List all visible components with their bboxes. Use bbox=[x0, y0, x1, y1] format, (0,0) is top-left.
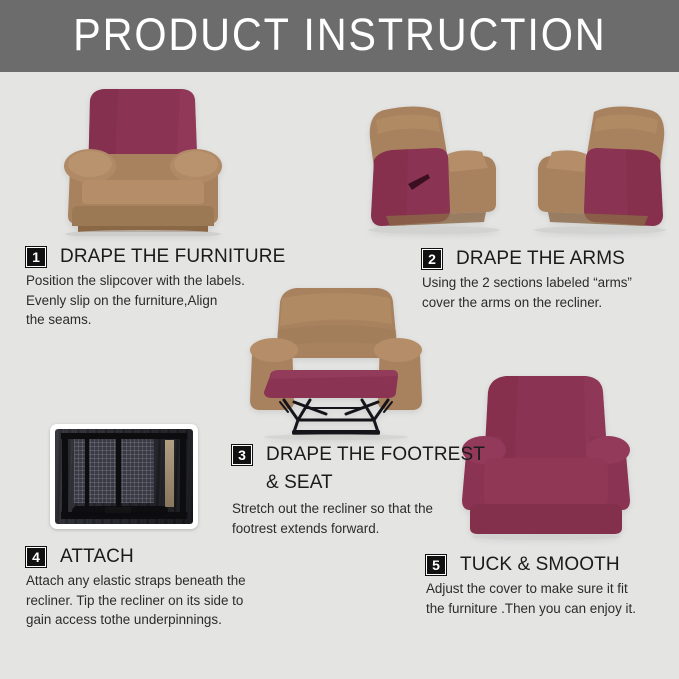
step-4-title: ATTACH bbox=[60, 546, 134, 568]
step-5-badge: 5 bbox=[426, 555, 446, 575]
two-recliners-svg bbox=[362, 98, 672, 238]
image-recliner-underside-photo bbox=[50, 424, 198, 529]
step-3-badge: 3 bbox=[232, 445, 252, 465]
frame-bar-center-vertical bbox=[116, 437, 121, 511]
step-3-body: Stretch out the recliner so that the foo… bbox=[232, 499, 492, 538]
wood-slat-right bbox=[165, 440, 174, 507]
image-two-recliners-with-arm-covers bbox=[362, 98, 672, 238]
step-5-heading: 5 TUCK & SMOOTH bbox=[426, 554, 676, 576]
left-recliner bbox=[368, 106, 500, 234]
elastic-strap-bundle bbox=[72, 506, 169, 516]
step-2-heading: 2 DRAPE THE ARMS bbox=[422, 248, 672, 270]
step-3-heading: 3 DRAPE THE FOOTREST bbox=[232, 444, 492, 466]
step-4-badge: 4 bbox=[26, 547, 46, 567]
step-2-title: DRAPE THE ARMS bbox=[456, 248, 625, 270]
right-recliner bbox=[534, 106, 666, 234]
underside-photo-inner bbox=[55, 429, 193, 524]
frame-bar-right bbox=[180, 434, 186, 518]
frame-bar-top bbox=[61, 433, 188, 439]
step-block-3: 3 DRAPE THE FOOTREST & SEAT Stretch out … bbox=[232, 444, 492, 538]
recliner-front-view-svg bbox=[48, 84, 238, 236]
frame-bar-inner-vertical bbox=[85, 439, 89, 507]
step-5-body: Adjust the cover to make sure it fit the… bbox=[426, 579, 676, 618]
step-1-body: Position the slipcover with the labels. … bbox=[26, 271, 316, 330]
frame-bar-left bbox=[62, 434, 68, 518]
step-block-2: 2 DRAPE THE ARMS Using the 2 sections la… bbox=[422, 248, 672, 312]
step-4-body: Attach any elastic straps beneath the re… bbox=[26, 571, 316, 630]
step-block-4: 4 ATTACH Attach any elastic straps benea… bbox=[26, 546, 316, 630]
step-5-title: TUCK & SMOOTH bbox=[460, 554, 620, 576]
step-1-heading: 1 DRAPE THE FURNITURE bbox=[26, 246, 316, 268]
step-2-badge: 2 bbox=[422, 249, 442, 269]
step-3-title: DRAPE THE FOOTREST bbox=[266, 444, 485, 466]
step-block-1: 1 DRAPE THE FURNITURE Position the slipc… bbox=[26, 246, 316, 330]
page-title: PRODUCT INSTRUCTION bbox=[73, 12, 606, 60]
header-banner: PRODUCT INSTRUCTION bbox=[0, 0, 679, 72]
image-recliner-with-backrest-cover bbox=[48, 84, 238, 236]
step-3-title-line2: & SEAT bbox=[266, 472, 492, 494]
step-4-heading: 4 ATTACH bbox=[26, 546, 316, 568]
step-block-5: 5 TUCK & SMOOTH Adjust the cover to make… bbox=[426, 554, 676, 618]
step-1-title: DRAPE THE FURNITURE bbox=[60, 246, 285, 268]
step-2-body: Using the 2 sections labeled “arms” cove… bbox=[422, 273, 672, 312]
step-1-badge: 1 bbox=[26, 247, 46, 267]
